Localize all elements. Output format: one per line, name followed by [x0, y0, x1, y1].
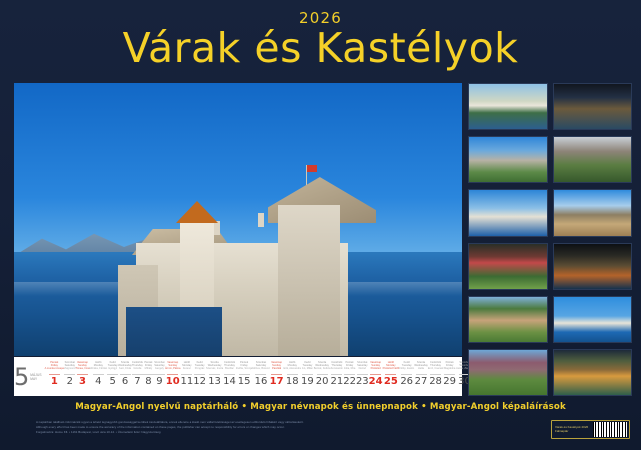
day-meta: CsütörtökThursdayKonstantin — [331, 361, 343, 373]
thumbnail-gallery — [468, 83, 632, 396]
day-meta: CsütörtökThursdayGizella — [132, 361, 143, 373]
calendar-day: SzombatSaturdayGergely9 — [154, 357, 165, 396]
calendar-day: KeddTuesdayFülöp, Evelin26 — [399, 357, 414, 396]
day-separator — [385, 374, 396, 375]
name-day: Ármin, Pálma — [165, 367, 181, 370]
name-day: Szervác, Imola — [206, 367, 223, 370]
hero-photo — [14, 83, 462, 356]
calendar-day: PéntekFridayA munka ünnepe1 — [45, 357, 64, 396]
day-meta: SzerdaWednesdayBernát, Felícia — [314, 361, 331, 373]
day-separator — [194, 374, 205, 375]
day-number: 27 — [415, 376, 428, 387]
day-separator — [401, 374, 412, 375]
name-day: Ferenc — [183, 367, 191, 370]
thumbnail-05 — [468, 189, 548, 236]
month-indicator: 5 MÁJUS MAY — [14, 357, 45, 396]
name-day: Pongrác — [195, 367, 205, 370]
month-name-en: MAY — [30, 378, 41, 382]
calendar-day: PéntekFridayMihály8 — [143, 357, 154, 396]
thumbnail-08 — [553, 243, 633, 290]
legal-line-en: Although every effort has been made to e… — [36, 426, 456, 430]
thumbnail-10 — [553, 296, 633, 343]
day-separator — [224, 374, 235, 375]
calendar-day: VasárnapSundayTímea, Irma3 — [75, 357, 89, 396]
thumbnail-09 — [468, 296, 548, 343]
day-meta: PéntekFridayJúlia, Rita — [344, 361, 355, 373]
day-separator — [49, 374, 60, 375]
day-number: 10 — [166, 376, 180, 387]
day-separator — [357, 374, 368, 375]
day-number: 21 — [330, 376, 343, 387]
name-day: Mihály — [145, 367, 153, 370]
day-separator — [331, 374, 342, 375]
day-separator — [181, 374, 192, 375]
day-number: 26 — [400, 376, 413, 387]
day-number: 9 — [156, 376, 162, 387]
day-number: 24 — [369, 376, 383, 387]
calendar-day: SzerdaWednesdayIvett, Frida6 — [118, 357, 132, 396]
day-separator — [132, 374, 143, 375]
day-meta: PéntekFridayMihály — [144, 361, 152, 373]
poster-header: 2026 Várak és Kastélyok — [0, 0, 641, 78]
day-number: 22 — [343, 376, 356, 387]
calendar-day: VasárnapSundayÁrmin, Pálma10 — [165, 357, 181, 396]
day-separator — [317, 374, 328, 375]
day-number: 14 — [223, 376, 236, 387]
day-meta: KeddTuesdayFülöp, Evelin — [399, 361, 414, 373]
castle-chimney — [258, 213, 264, 227]
castle-silhouette — [118, 199, 376, 356]
day-number: 3 — [79, 376, 86, 387]
castle-tower-right — [278, 205, 340, 356]
day-meta: VasárnapSundayPaszkál — [271, 361, 282, 373]
name-day: Bernát, Felícia — [314, 367, 331, 370]
day-separator — [209, 374, 220, 375]
thumbnail-01 — [468, 83, 548, 130]
day-number: 17 — [270, 376, 284, 387]
calendar-strip: 5 MÁJUS MAY PéntekFridayA munka ünnepe1S… — [14, 357, 462, 396]
day-meta: VasárnapSundayÁrmin, Pálma — [165, 361, 181, 373]
name-day: Magdolna — [444, 367, 455, 370]
day-number: 7 — [134, 376, 140, 387]
tagline: Magyar-Angol nyelvű naptárháló • Magyar … — [0, 402, 641, 412]
day-meta: SzerdaWednesdayIvett, Frida — [118, 361, 132, 373]
day-meta: SzerdaWednesdaySzervác, Imola — [206, 361, 223, 373]
days-grid: PéntekFridayA munka ünnepe1SzombatSaturd… — [45, 357, 497, 396]
day-meta: SzombatSaturdayMózes, Botond — [252, 361, 269, 373]
month-number: 5 — [14, 365, 29, 389]
day-number: 23 — [356, 376, 369, 387]
day-number: 8 — [145, 376, 151, 387]
publisher-line: Forgalmazza: Home Kft. • 1161 Budapest, … — [36, 431, 456, 435]
name-day: Gergely — [155, 367, 164, 370]
calendar-day: PéntekFridayMagdolna29 — [443, 357, 456, 396]
day-separator — [107, 374, 118, 375]
name-day: Erik, Alexandra — [284, 367, 301, 370]
day-separator — [271, 374, 282, 375]
day-separator — [416, 374, 427, 375]
day-meta: SzombatSaturdayZsigmond — [64, 361, 75, 373]
day-meta: KeddTuesdayIvó, Milán — [302, 361, 313, 373]
name-day: Ivó, Milán — [302, 367, 313, 370]
day-separator — [344, 374, 355, 375]
name-day: Mózes, Botond — [252, 367, 269, 370]
calendar-day: SzerdaWednesdaySzervác, Imola13 — [206, 357, 223, 396]
calendar-day: HétfőMondayMónika, Flórián4 — [89, 357, 107, 396]
name-day: Bonifác — [225, 367, 234, 370]
name-day: Konstantin — [331, 367, 343, 370]
calendar-day: KeddTuesdayGyörgyi5 — [107, 357, 118, 396]
calendar-day: SzombatSaturdayDezső23 — [356, 357, 369, 396]
day-meta: SzerdaWednesdayHella — [414, 361, 428, 373]
calendar-day: CsütörtökThursdayGizella7 — [132, 357, 143, 396]
calendar-day: SzerdaWednesdayHella27 — [414, 357, 428, 396]
name-day: Zsófia, Szonja — [236, 367, 252, 370]
thumbnail-12 — [553, 349, 633, 396]
calendar-day: CsütörtökThursdayKonstantin21 — [330, 357, 343, 396]
day-number: 1 — [51, 376, 58, 387]
calendar-day: HétfőMondayFerenc11 — [181, 357, 194, 396]
calendar-day: SzerdaWednesdayBernát, Felícia20 — [314, 357, 331, 396]
castle-shadow-wall — [126, 307, 222, 356]
name-day: A munka ünnepe — [45, 367, 64, 370]
legal-text: A naptárban található információk ugyan … — [36, 421, 456, 436]
day-separator — [287, 374, 298, 375]
day-separator — [302, 374, 313, 375]
name-day: Fülöp, Evelin — [399, 367, 414, 370]
calendar-day: VasárnapSundayPaszkál17 — [270, 357, 284, 396]
day-number: 20 — [316, 376, 329, 387]
day-separator — [64, 374, 75, 375]
thumbnail-11 — [468, 349, 548, 396]
day-separator — [120, 374, 131, 375]
name-day: Ivett, Frida — [119, 367, 131, 370]
calendar-day: PéntekFridayJúlia, Rita22 — [343, 357, 356, 396]
thumbnail-06 — [553, 189, 633, 236]
day-number: 4 — [95, 376, 101, 387]
barcode-label: Várak és Kastélyok 2026 Falinaptár — [554, 426, 593, 433]
day-meta: HétfőMondayPünkösd hétfő — [383, 361, 400, 373]
calendar-day: HétfőMondayErik, Alexandra18 — [284, 357, 301, 396]
day-separator — [77, 374, 88, 375]
barcode-icon — [593, 422, 627, 437]
month-names: MÁJUS MAY — [30, 372, 41, 381]
name-day: Mónika, Flórián — [89, 367, 107, 370]
day-separator — [167, 374, 178, 375]
calendar-day: CsütörtökThursdayEmil, Csanád28 — [428, 357, 443, 396]
day-meta: VasárnapSundayPünkösd — [370, 361, 381, 373]
day-number: 18 — [286, 376, 299, 387]
day-meta: CsütörtökThursdayEmil, Csanád — [428, 361, 443, 373]
barcode-label-line2: Falinaptár — [555, 430, 593, 434]
day-separator — [143, 374, 154, 375]
castle-chimney — [214, 221, 220, 235]
day-meta: PéntekFridayZsófia, Szonja — [236, 361, 252, 373]
day-number: 16 — [255, 376, 268, 387]
day-meta: KeddTuesdayGyörgyi — [108, 361, 118, 373]
thumbnail-03 — [468, 136, 548, 183]
day-number: 15 — [238, 376, 251, 387]
calendar-poster: 2026 Várak és Kastélyok 5 — [0, 0, 641, 450]
day-separator — [154, 374, 165, 375]
calendar-day: HétfőMondayPünkösd hétfő25 — [383, 357, 400, 396]
calendar-day: CsütörtökThursdayBonifác14 — [223, 357, 236, 396]
day-meta: HétfőMondayMónika, Flórián — [89, 361, 107, 373]
day-number: 28 — [429, 376, 442, 387]
day-meta: CsütörtökThursdayBonifác — [224, 361, 235, 373]
thumbnail-07 — [468, 243, 548, 290]
calendar-day: VasárnapSundayPünkösd24 — [369, 357, 383, 396]
name-day: Pünkösd — [371, 367, 381, 370]
day-meta: VasárnapSundayTímea, Irma — [75, 361, 89, 373]
barcode-box: Várak és Kastélyok 2026 Falinaptár — [551, 420, 630, 439]
page-title: Várak és Kastélyok — [0, 25, 641, 71]
day-meta: SzombatSaturdayGergely — [154, 361, 164, 373]
day-meta: PéntekFridayMagdolna — [444, 361, 455, 373]
day-meta: HétfőMondayFerenc — [182, 361, 191, 373]
name-day: Paszkál — [272, 367, 281, 370]
day-meta: SzombatSaturdayDezső — [357, 361, 367, 373]
calendar-day: SzombatSaturdayZsigmond2 — [64, 357, 75, 396]
thumbnail-04 — [553, 136, 633, 183]
day-number: 11 — [181, 376, 194, 387]
name-day: Zsigmond — [64, 367, 75, 370]
year-label: 2026 — [0, 0, 641, 27]
name-day: Emil, Csanád — [428, 367, 443, 370]
day-separator — [444, 374, 455, 375]
calendar-day: SzombatSaturdayMózes, Botond16 — [252, 357, 269, 396]
day-number: 2 — [67, 376, 73, 387]
name-day: Hella — [418, 367, 424, 370]
day-meta: HétfőMondayErik, Alexandra — [284, 361, 301, 373]
day-number: 19 — [301, 376, 314, 387]
day-number: 12 — [193, 376, 206, 387]
day-meta: KeddTuesdayPongrác — [195, 361, 205, 373]
name-day: Tímea, Irma — [75, 367, 89, 370]
legal-line-hu: A naptárban található információk ugyan … — [36, 421, 456, 425]
name-day: Júlia, Rita — [344, 367, 355, 370]
day-separator — [370, 374, 381, 375]
calendar-day: KeddTuesdayIvó, Milán19 — [301, 357, 314, 396]
day-separator — [93, 374, 104, 375]
name-day: Pünkösd hétfő — [383, 367, 400, 370]
calendar-day: PéntekFridayZsófia, Szonja15 — [236, 357, 252, 396]
day-number: 5 — [109, 376, 115, 387]
name-day: Györgyi — [108, 367, 117, 370]
day-separator — [430, 374, 441, 375]
name-day: Dezső — [359, 367, 366, 370]
day-number: 13 — [208, 376, 221, 387]
day-meta: PéntekFridayA munka ünnepe — [45, 361, 64, 373]
day-separator — [255, 374, 266, 375]
day-number: 25 — [384, 376, 398, 387]
calendar-day: KeddTuesdayPongrác12 — [193, 357, 206, 396]
name-day: Gizella — [133, 367, 141, 370]
day-number: 29 — [443, 376, 456, 387]
thumbnail-02 — [553, 83, 633, 130]
day-number: 6 — [122, 376, 128, 387]
day-separator — [239, 374, 250, 375]
